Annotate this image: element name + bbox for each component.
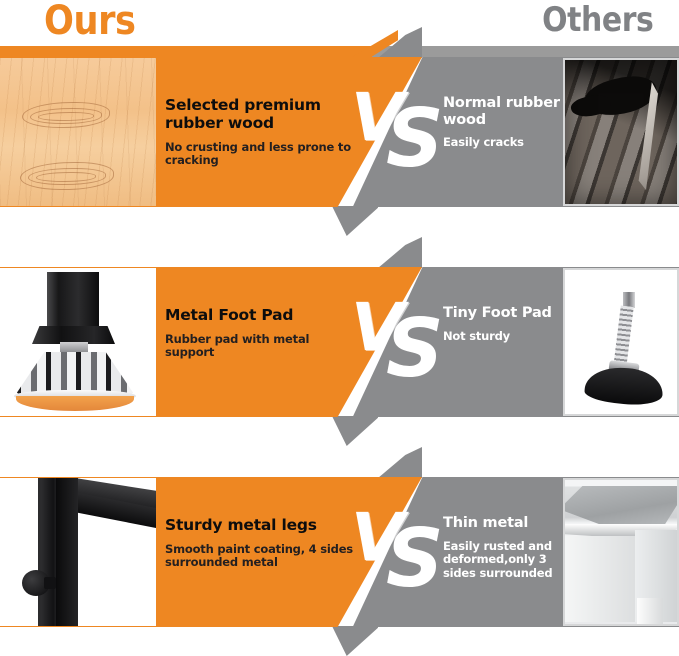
gray-spike-bottom-icon-1 [332,206,378,236]
others-text-3: Thin metal Easily rusted and deformed,on… [443,515,568,580]
ours-text-3: Sturdy metal legs Smooth paint coating, … [165,517,355,570]
gray-spike-bottom-icon-2 [332,416,378,446]
ours-desc-3: Smooth paint coating, 4 sides surrounded… [165,543,355,570]
ours-desc-2: Rubber pad with metal support [165,333,355,360]
header-divider-bar [0,46,679,57]
premium-rubber-wood-photo [0,58,156,206]
others-desc-3: Easily rusted and deformed,only 3 sides … [443,540,568,581]
sturdy-black-metal-leg-photo [0,478,156,626]
others-title-1: Normal rubber wood [443,95,568,128]
others-image-2 [563,268,679,416]
gray-spike-top-icon-2 [378,237,422,268]
tiny-foot-pad-photo [565,270,677,414]
comparison-row-1: Selected premium rubber wood No crusting… [0,57,679,207]
ours-title-3: Sturdy metal legs [165,517,355,535]
header-ours-label: Ours [44,0,136,44]
others-text-2: Tiny Foot Pad Not sturdy [443,305,568,343]
metal-foot-pad-photo [0,268,156,416]
others-desc-1: Easily cracks [443,136,568,150]
others-text-1: Normal rubber wood Easily cracks [443,95,568,150]
header-others-label: Others [542,0,653,40]
ours-text-1: Selected premium rubber wood No crusting… [165,97,355,168]
others-title-2: Tiny Foot Pad [443,305,568,322]
ours-title-1: Selected premium rubber wood [165,97,355,133]
comparison-row-2: Metal Foot Pad Rubber pad with metal sup… [0,267,679,417]
ours-image-1 [0,58,156,206]
comparison-row-3: Sturdy metal legs Smooth paint coating, … [0,477,679,627]
others-image-1 [563,58,679,206]
header: Ours Others [0,0,679,57]
ours-image-3 [0,478,156,626]
others-title-3: Thin metal [443,515,568,532]
ours-image-2 [0,268,156,416]
others-desc-2: Not sturdy [443,330,568,344]
ours-desc-1: No crusting and less prone to cracking [165,141,355,168]
others-image-3 [563,478,679,626]
ours-title-2: Metal Foot Pad [165,307,355,325]
gray-spike-bottom-icon-3 [332,626,378,656]
thin-steel-corner-photo [565,480,677,624]
cracked-rubber-wood-photo [565,60,677,204]
header-bar-orange-segment [0,46,372,57]
gray-spike-top-icon-3 [378,447,422,478]
comparison-infographic: Ours Others Selected premium rubber wood… [0,0,679,650]
ours-text-2: Metal Foot Pad Rubber pad with metal sup… [165,307,355,360]
